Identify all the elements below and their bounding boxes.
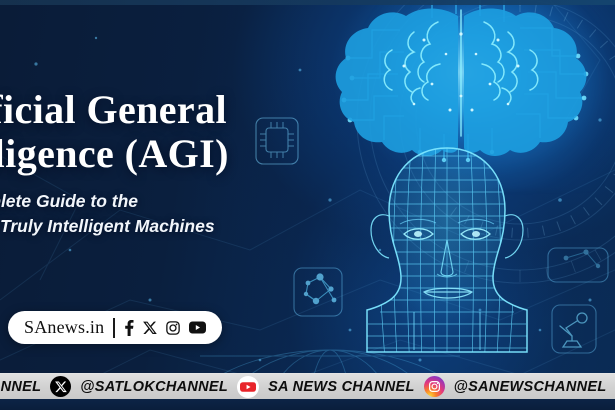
- x-icon[interactable]: [50, 376, 71, 397]
- title-line-1: tificial General: [0, 87, 227, 132]
- network-nodes-icon: [294, 268, 342, 316]
- title-line-2: elligence (AGI): [0, 132, 304, 176]
- ticker-handle-sanewschannel: @SANEWSCHANNEL: [454, 379, 607, 395]
- site-name-label: SAnews.in: [24, 317, 104, 338]
- subtitle-line-2: e of Truly Intelligent Machines: [0, 214, 304, 239]
- wireframe-head-graphic: [354, 134, 540, 372]
- robot-arm-icon: [552, 305, 596, 353]
- social-ticker-bar: S CHANNEL @SATLOKCHANNEL SA NEWS CHAN: [0, 373, 615, 399]
- ticker-items: S CHANNEL @SATLOKCHANNEL SA NEWS CHAN: [0, 376, 615, 398]
- site-badge[interactable]: SAnews.in: [8, 311, 222, 344]
- subtitle: omplete Guide to the e of Truly Intellig…: [0, 189, 304, 240]
- ticker-text-satlok-channel: S CHANNEL: [0, 379, 41, 395]
- ticker-text-sa-news-channel: SA NEWS CHANNEL: [268, 379, 415, 395]
- brain-graphic: [336, 0, 587, 156]
- badge-social-icons: [124, 320, 206, 336]
- subtitle-line-1: omplete Guide to the: [0, 189, 304, 214]
- ticker-bottom-strip: [0, 399, 615, 410]
- headline-block: tificial General elligence (AGI) omplete…: [0, 88, 304, 240]
- facebook-icon[interactable]: [124, 320, 134, 336]
- instagram-icon[interactable]: [424, 376, 445, 397]
- youtube-icon[interactable]: [189, 321, 206, 334]
- circuit-traces: [344, 0, 586, 160]
- badge-divider: [113, 318, 115, 338]
- ticker-handle-satlokchannel: @SATLOKCHANNEL: [80, 379, 228, 395]
- youtube-icon[interactable]: [237, 376, 259, 398]
- top-strip: [0, 0, 615, 5]
- agi-banner: tificial General elligence (AGI) omplete…: [0, 0, 615, 410]
- decor-card-top-right: [548, 248, 608, 282]
- page-title: tificial General elligence (AGI): [0, 88, 304, 176]
- instagram-icon[interactable]: [166, 321, 180, 335]
- x-icon[interactable]: [143, 321, 157, 335]
- brain-glow: [362, 0, 615, 190]
